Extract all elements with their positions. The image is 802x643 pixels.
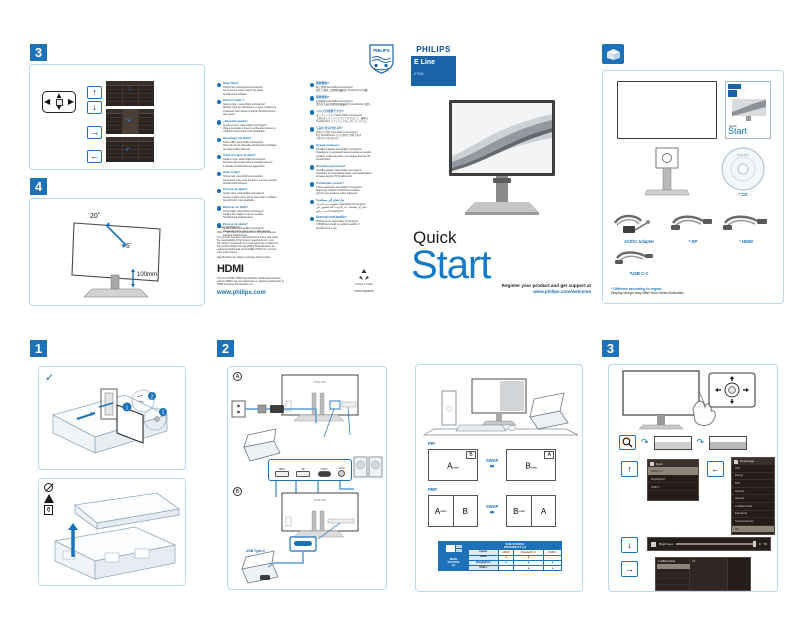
- language-body: Ajuda online: www.philips.com/support Ac…: [223, 192, 277, 202]
- printed-in-label: Printed in China: [333, 283, 395, 286]
- usbc-port-label: USB C: [296, 543, 305, 547]
- pbp-left-a: Amain: [429, 496, 454, 526]
- key-up: ↑: [87, 86, 102, 99]
- panel-step1: 1 ✓ 1 2 1: [28, 338, 208, 598]
- language-entry: Avete bisogno di aiuto?Guida in linea: w…: [217, 154, 303, 168]
- pbp-swap: SWAP ⬌: [486, 505, 498, 516]
- svg-text:2: 2: [151, 395, 154, 401]
- cover-start-text: Start: [411, 243, 490, 288]
- adapter-label: AC/DC Adapter: [611, 239, 667, 244]
- port-hdmi: HDMI: [275, 468, 289, 477]
- bullet-icon: [310, 200, 314, 204]
- table-corner-icon: [439, 542, 469, 556]
- svg-text:1: 1: [126, 406, 129, 412]
- language-entry: ¿Necesita ayuda?Ayuda en linea: www.phil…: [217, 120, 303, 134]
- pip-left-sub: B: [466, 451, 476, 459]
- cell-usbc-usbc: ●: [543, 566, 561, 571]
- step1-box-b: ⚱: [38, 478, 186, 586]
- legal-block: Version 4X2V0R0Q/1 2021 © TOP Victory In…: [217, 226, 327, 296]
- booklet-start-text: Start: [728, 126, 747, 136]
- fragile-glass-icon: ⚱: [44, 505, 53, 515]
- bullet-icon: [217, 172, 221, 176]
- pbp-left-b: B: [454, 496, 478, 526]
- language-column-left: Need help?Online help: www.philips.com/s…: [217, 82, 303, 240]
- tilt-down-label: -5˚: [124, 243, 132, 250]
- bullet-icon: [310, 182, 314, 186]
- main-source-header: MAIN SOURCE (●): [439, 555, 469, 571]
- step-badge-3: 3: [30, 44, 47, 61]
- philips-shield-logo: PHILIPS: [369, 44, 394, 74]
- language-entry: Precisa de ajuda?Ajuda online: www.phili…: [217, 188, 303, 202]
- register-line-2: www.philips.com/welcome: [502, 289, 591, 294]
- panel-pip-pbp: PIP B Amain SWAP ⬌ A Bmain PBP Amain B S: [405, 338, 595, 598]
- key-down: ↓: [87, 101, 102, 114]
- osd-main-menu: LowBlue Mode Off: [655, 557, 751, 591]
- svg-text:PHILIPS: PHILIPS: [314, 380, 326, 384]
- osd-key-up: ↑: [621, 461, 638, 477]
- svg-text:PHILIPS: PHILIPS: [373, 48, 389, 53]
- register-block: Register your product and get support at…: [502, 283, 591, 294]
- input-item-dp: DisplayPort: [648, 475, 698, 483]
- accessory-quickstart-booklet: Quick Start: [725, 81, 771, 139]
- accessories-footnotes: * Different according to region. Display…: [611, 287, 684, 295]
- monitor-joystick-illustration: [609, 369, 779, 431]
- pbp-left-screen: Amain B: [428, 495, 478, 527]
- language-body: 온라인 도움말: www.philips.com/support 최신 Smar…: [316, 131, 361, 141]
- footnote-design: Display design may differ from those ill…: [611, 291, 684, 295]
- port-audio: Audio: [338, 467, 345, 477]
- osd-input-menu: Input HDMI 2.0 DisplayPort USB C: [647, 459, 699, 501]
- osd-thumb-1: [654, 436, 692, 450]
- input-menu-icon: [650, 462, 654, 466]
- handling-icons: ⚱: [44, 483, 54, 515]
- bullet-icon: [310, 217, 314, 221]
- joystick-icon: ▲▼ ◀▶: [42, 91, 76, 113]
- input-item-usbc: USB C: [648, 483, 698, 491]
- language-body: Онлайн-довідка: www.philips.com/support …: [316, 169, 372, 179]
- bullet-icon: [217, 100, 221, 104]
- language-entry: 需要幫助?線上說明:www.philips.com/support 前往上述線上…: [310, 82, 398, 93]
- panel-step3-osd: 3 ↷: [598, 338, 788, 598]
- panel-multilingual-text: PHILIPS Need help?Online help: www.phili…: [215, 40, 400, 308]
- recycle-icon: [357, 268, 371, 282]
- brightness-icon: [651, 542, 656, 547]
- key-right: →: [87, 126, 102, 139]
- smartimage-item: Gamer1: [732, 488, 774, 496]
- pbp-right-screen: Bmain A: [506, 495, 556, 527]
- printed-in-block: Printed in China P00227WB1E55A: [333, 268, 395, 293]
- language-entry: هل تحتاج إلى مساعدة؟التعليمات عبر الإنتر…: [310, 199, 398, 213]
- copyright-string: 2021 © TOP Victory Investments Ltd. All …: [217, 231, 327, 234]
- bullet-icon: [217, 206, 221, 210]
- language-body: 在线帮助:www.philips.com/support 请访问上述在线帮助获取…: [316, 100, 372, 107]
- accessory-cd: PHILIPS * CD: [719, 147, 767, 209]
- osd-thumb-2: [709, 436, 747, 450]
- arrow-icon-2: ↷: [697, 437, 705, 448]
- pip-right-sub: A: [544, 451, 554, 459]
- accessory-dp-cable: * DP: [669, 211, 717, 244]
- brightness-max: 50: [764, 542, 767, 546]
- usb-typec-label: USB Type-C: [246, 549, 265, 553]
- osd-screenshot-2: ↷: [106, 109, 154, 134]
- usbc-label: *USB C-C: [613, 271, 665, 276]
- smartimage-item: SmartUniformity: [732, 518, 774, 526]
- language-entry: Potřebujete pomoc?Online napoveda: www.p…: [310, 182, 398, 196]
- height-label: 100mm: [137, 272, 157, 278]
- step3-osd-box: ↷ ↷ ↑ Input HDMI 2.0 DisplayPort USB C ←: [608, 364, 778, 592]
- step3-illustration-box: ▲▼ ◀▶ ↑ ↓ → ← ↕ ↷: [29, 64, 205, 170]
- step-badge-2: 2: [217, 340, 234, 357]
- pbp-right-a: A: [532, 496, 556, 526]
- brand-wordmark: PHILIPS: [411, 42, 456, 56]
- language-body: Online-hjalp: www.philips.com/support Ga…: [223, 210, 263, 220]
- osd-screenshot-1: ↕: [106, 81, 154, 106]
- main-menu-subtitle: Off: [692, 560, 695, 563]
- bullet-icon: [310, 83, 314, 87]
- language-entry: Потрібна допомога?Онлайн-довідка: www.ph…: [310, 165, 398, 179]
- version-string: Version 4X2V0R0Q/1: [217, 226, 327, 229]
- hdmi-logo: HDMI: [217, 263, 327, 275]
- desk-scene-illustration: [416, 371, 584, 437]
- osd-key-right: →: [621, 561, 638, 577]
- panel-accessories: Quick Start PHILIPS * CD: [598, 40, 788, 308]
- pip-swap: SWAP ⬌: [486, 459, 498, 470]
- row-input-usbc: USB C: [469, 566, 499, 571]
- osd-brightness-bar: Brightness 0 50: [647, 537, 771, 551]
- unpack-diagram-a: 1 2 1: [39, 367, 187, 471]
- dp-label: * DP: [669, 239, 717, 244]
- language-entry: Besoin d'aide ?Aide en ligne : www.phili…: [217, 99, 303, 116]
- cell-usbc-hdmi: [498, 566, 514, 571]
- bullet-icon: [217, 189, 221, 193]
- model-label: 27M1: [414, 71, 424, 76]
- arrow-icon-1: ↷: [641, 437, 649, 448]
- smartimage-menu-title: SmartImage: [740, 460, 754, 463]
- osd-key-left: ←: [707, 461, 724, 477]
- pip-right-screen: A Bmain: [506, 449, 556, 481]
- hdmi-notice: The terms HDMI, HDMI High-Definition Mul…: [217, 277, 327, 286]
- sub-source-header: SUB SOURCE POSSIBILITY (●): [469, 542, 562, 550]
- language-body: Ayuda en linea: www.philips.com/support …: [223, 124, 276, 134]
- unpack-diagram-b: [39, 479, 187, 587]
- port-audio-label: Audio: [338, 467, 345, 470]
- monitor-hero-image: [447, 98, 557, 220]
- bullet-icon: [217, 83, 221, 87]
- language-entry: ヘルプが必要ですか?オンラインヘルプ:www.philips.com/suppo…: [310, 110, 398, 124]
- input-item-selected: HDMI 2.0: [648, 467, 698, 475]
- pbp-diagram: Amain B SWAP ⬌ Bmain A: [428, 495, 556, 527]
- pip-left-main: Amain: [447, 461, 459, 470]
- hdmi-label: * HDMI: [721, 239, 771, 244]
- register-line-1: Register your product and get support at: [502, 283, 591, 288]
- pip-label: PIP: [428, 441, 435, 446]
- language-body: التعليمات عبر الإنترنت: www.philips.com/…: [316, 203, 367, 213]
- bullet-icon: [310, 145, 314, 149]
- osd-screenshot-3: ↶: [106, 137, 154, 162]
- language-body: Guida in linea: www.philips.com/support …: [223, 158, 273, 168]
- legal-body: This product has been manufactured by an…: [217, 236, 327, 254]
- language-column-right: 需要幫助?線上說明:www.philips.com/support 前往上述線上…: [310, 82, 398, 233]
- osd-flow-row: ↷ ↷: [619, 435, 747, 450]
- smartimage-item: Gamer2: [732, 495, 774, 503]
- language-body: Online-Hilfe: www.philips.com/support Ru…: [223, 141, 277, 151]
- language-body: Online napoveda: www.philips.com/support…: [316, 186, 362, 196]
- language-entry: 도움이 필요하십니까?온라인 도움말: www.philips.com/supp…: [310, 127, 398, 141]
- language-entry: Нужна помощь?Онлайн-справка: www.philips…: [310, 144, 398, 161]
- monitor-tilt-diagram: [30, 199, 206, 307]
- accessory-adapter: AC/DC Adapter: [611, 211, 667, 244]
- pbp-right-b: Bmain: [507, 496, 532, 526]
- bullet-icon: [217, 155, 221, 159]
- philips-url: www.philips.com: [217, 290, 327, 296]
- smartimage-item: Racing: [732, 473, 774, 481]
- input-menu-title: Input: [656, 462, 662, 466]
- smartimage-item: FPS: [732, 465, 774, 473]
- accessory-stand: [643, 147, 691, 201]
- tilt-up-label: 20˚: [90, 213, 100, 220]
- language-body: Online help: www.philips.com/support Go …: [223, 86, 263, 96]
- key-left: ←: [87, 150, 102, 163]
- brightness-value: 0: [759, 542, 761, 546]
- connection-diagram-b: PHILIPS: [228, 491, 388, 587]
- smartimage-item: LowBlue Mode: [732, 503, 774, 511]
- step-badge-1: 1: [30, 340, 47, 357]
- panel-step3-step4: 3 ▲▼ ◀▶ ↑ ↓ → ← ↕ ↷: [28, 40, 208, 308]
- language-body: オンラインヘルプ:www.philips.com/support 上記のオンライ…: [316, 114, 369, 124]
- bullet-icon: [310, 110, 314, 114]
- port-usbc: USB C: [318, 468, 331, 477]
- accessory-usbc-cable: *USB C-C: [613, 247, 665, 276]
- smartimage-item: EasyRead: [732, 511, 774, 519]
- cell-usbc-dp: ●: [514, 566, 543, 571]
- check-icon: ✓: [45, 371, 54, 384]
- language-entry: Benötigen Sie Hilfe?Online-Hilfe: www.ph…: [217, 137, 303, 151]
- panel-cover: PHILIPS E Line 27M1 Quick Start Register…: [405, 40, 593, 308]
- part-number: P00227WB1E55A: [333, 290, 395, 293]
- language-entry: Need help?Online help: www.philips.com/s…: [217, 82, 303, 96]
- step2-box: A PHILIPS: [227, 366, 387, 590]
- brightness-track[interactable]: [676, 543, 756, 545]
- bullet-icon: [310, 127, 314, 131]
- pip-diagram: B Amain SWAP ⬌ A Bmain: [428, 449, 556, 481]
- quick-start-sheet: 3 ▲▼ ◀▶ ↑ ↓ → ← ↕ ↷: [0, 0, 802, 643]
- osd-key-down: ↓: [621, 537, 638, 553]
- svg-text:PHILIPS: PHILIPS: [314, 498, 326, 502]
- accessories-box: Quick Start PHILIPS * CD: [602, 70, 784, 304]
- accessories-box-icon: [602, 44, 624, 64]
- brightness-label: Brightness: [659, 542, 673, 546]
- language-body: Онлайн-справка: www.philips.com/support …: [316, 148, 372, 161]
- smartimage-item: RTS: [732, 480, 774, 488]
- bullet-icon: [217, 120, 221, 124]
- warning-triangle-icon: [44, 494, 54, 503]
- port-callout-box: HDMI DP USB C Audio: [268, 459, 352, 481]
- language-entry: Behöver du hjälp?Online-hjalp: www.phili…: [217, 206, 303, 220]
- accessory-display-panel: [617, 81, 717, 139]
- language-body: Online help: www.philips.com/support Ga …: [223, 175, 277, 185]
- pip-right-main: Bmain: [525, 461, 537, 470]
- series-label: E Line: [414, 59, 435, 66]
- no-icon: [44, 483, 53, 492]
- brand-logo-block: PHILIPS E Line 27M1: [411, 42, 456, 86]
- bullet-icon: [310, 96, 314, 100]
- pbp-label: PBP: [428, 487, 437, 492]
- language-entry: Hulp nodig?Online help: www.philips.com/…: [217, 171, 303, 185]
- accessory-hdmi-cable: * HDMI: [721, 211, 771, 244]
- pip-pbp-box: PIP B Amain SWAP ⬌ A Bmain PBP Amain B S: [415, 364, 583, 592]
- smartimage-menu-icon: [734, 460, 738, 464]
- language-body: 線上說明:www.philips.com/support 前往上述線上說明取得最…: [316, 86, 370, 93]
- search-icon: [619, 435, 636, 450]
- svg-text:PHILIPS: PHILIPS: [737, 153, 749, 157]
- panel-step2: 2 A PHILIPS: [215, 338, 400, 598]
- smartimage-item: Off: [732, 526, 774, 534]
- bullet-icon: [310, 165, 314, 169]
- main-menu-title: LowBlue Mode: [658, 560, 675, 563]
- language-entry: 需要帮助?在线帮助:www.philips.com/support 请访问上述在…: [310, 96, 398, 107]
- osd-smartimage-menu: SmartImage FPSRacingRTSGamer1Gamer2LowBl…: [731, 457, 775, 535]
- step-badge-4: 4: [30, 178, 47, 195]
- svg-text:1: 1: [162, 410, 165, 416]
- step4-illustration-box: 20˚ -5˚ 100mm: [29, 198, 205, 306]
- cd-label: * CD: [719, 192, 767, 197]
- port-dp: DP: [296, 468, 310, 477]
- pip-left-screen: B Amain: [428, 449, 478, 481]
- language-body: Aide en ligne : www.philips.com/support …: [223, 103, 276, 116]
- step-badge-3b: 3: [602, 340, 619, 357]
- step1-box-a: ✓ 1 2 1: [38, 366, 186, 470]
- bullet-icon: [217, 138, 221, 142]
- spec-notice: Specifications are subject to change wit…: [217, 256, 327, 259]
- source-compatibility-table: SUB SOURCE POSSIBILITY (●) Inputs HDMI D…: [438, 541, 562, 571]
